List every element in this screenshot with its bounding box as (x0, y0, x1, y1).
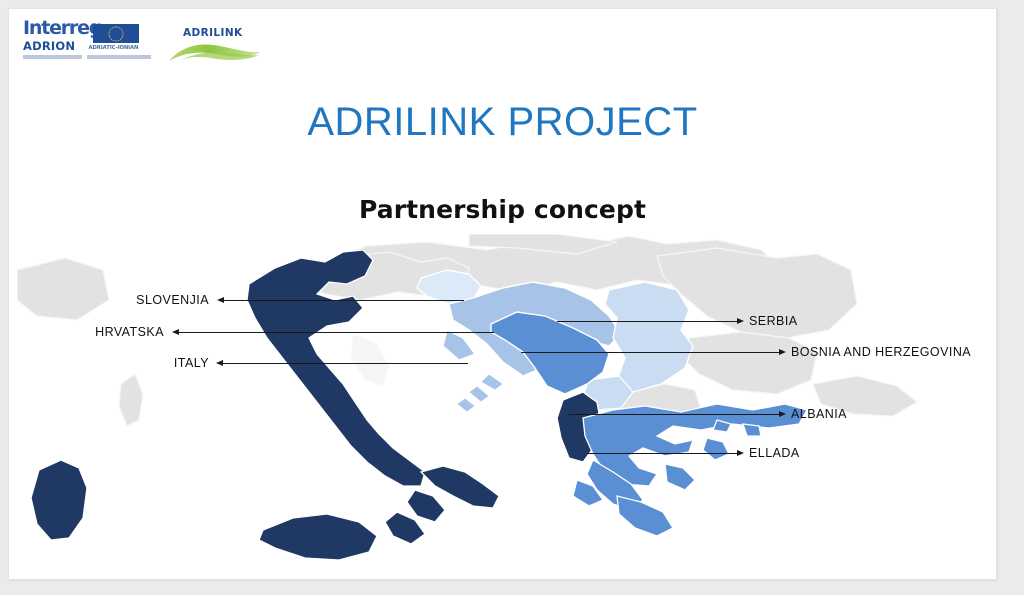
interreg-programme-label: ADRION (23, 40, 75, 52)
arrow-icon-albania (779, 411, 786, 417)
leader-line-hrvatska (179, 332, 494, 333)
callout-bosnia: BOSNIA AND HERZEGOVINA (791, 345, 971, 359)
arrow-icon-slovenjia (217, 297, 224, 303)
map-sea-shading (351, 334, 389, 386)
arrow-icon-italy (216, 360, 223, 366)
callout-albania: ALBANIA (791, 407, 847, 421)
country-shape-corsica (119, 374, 143, 426)
adrilink-logo: ADRILINK (167, 27, 263, 67)
eu-flag-icon (93, 24, 139, 43)
country-shape-greece (573, 404, 807, 536)
leader-line-ellada (587, 453, 737, 454)
slide-title: ADRILINK PROJECT (9, 100, 996, 145)
arrow-icon-hrvatska (172, 329, 179, 335)
country-shape-serbia (605, 282, 693, 392)
leader-line-slovenjia (224, 300, 464, 301)
callout-italy: ITALY (69, 356, 209, 370)
callout-serbia: SERBIA (749, 314, 798, 328)
partnership-map (17, 234, 996, 564)
country-shape-croatia-islands (457, 374, 503, 412)
callout-slovenjia: SLOVENJIA (69, 293, 209, 307)
slide-canvas: Interreg ADRION ADRIATIC-IONIAN ADRILINK (8, 8, 997, 580)
adrilink-wordmark: ADRILINK (183, 27, 243, 39)
country-shape-bulgaria (681, 332, 817, 394)
adrilink-wave-icon (167, 41, 263, 67)
callout-hrvatska: HRVATSKA (24, 325, 164, 339)
arrow-icon-serbia (737, 318, 744, 324)
logo-bar: Interreg ADRION ADRIATIC-IONIAN ADRILINK (15, 13, 435, 69)
presentation-stage: Interreg ADRION ADRIATIC-IONIAN ADRILINK (0, 0, 1024, 595)
leader-line-serbia (557, 321, 737, 322)
interreg-adrion-logo: Interreg ADRION ADRIATIC-IONIAN (23, 19, 153, 63)
leader-line-bosnia (521, 352, 779, 353)
eu-stars-icon (109, 26, 124, 41)
map-svg (17, 234, 996, 564)
arrow-icon-ellada (737, 450, 744, 456)
arrow-icon-bosnia (779, 349, 786, 355)
leader-line-italy (223, 363, 468, 364)
leader-line-albania (569, 414, 779, 415)
slide-subtitle: Partnership concept (9, 195, 996, 224)
interreg-fund-tagline (23, 55, 151, 59)
callout-ellada: ELLADA (749, 446, 800, 460)
interreg-wordmark: Interreg (23, 19, 101, 38)
interreg-strand-label: ADRIATIC-IONIAN (89, 45, 139, 51)
country-shape-france-edge (17, 258, 109, 320)
